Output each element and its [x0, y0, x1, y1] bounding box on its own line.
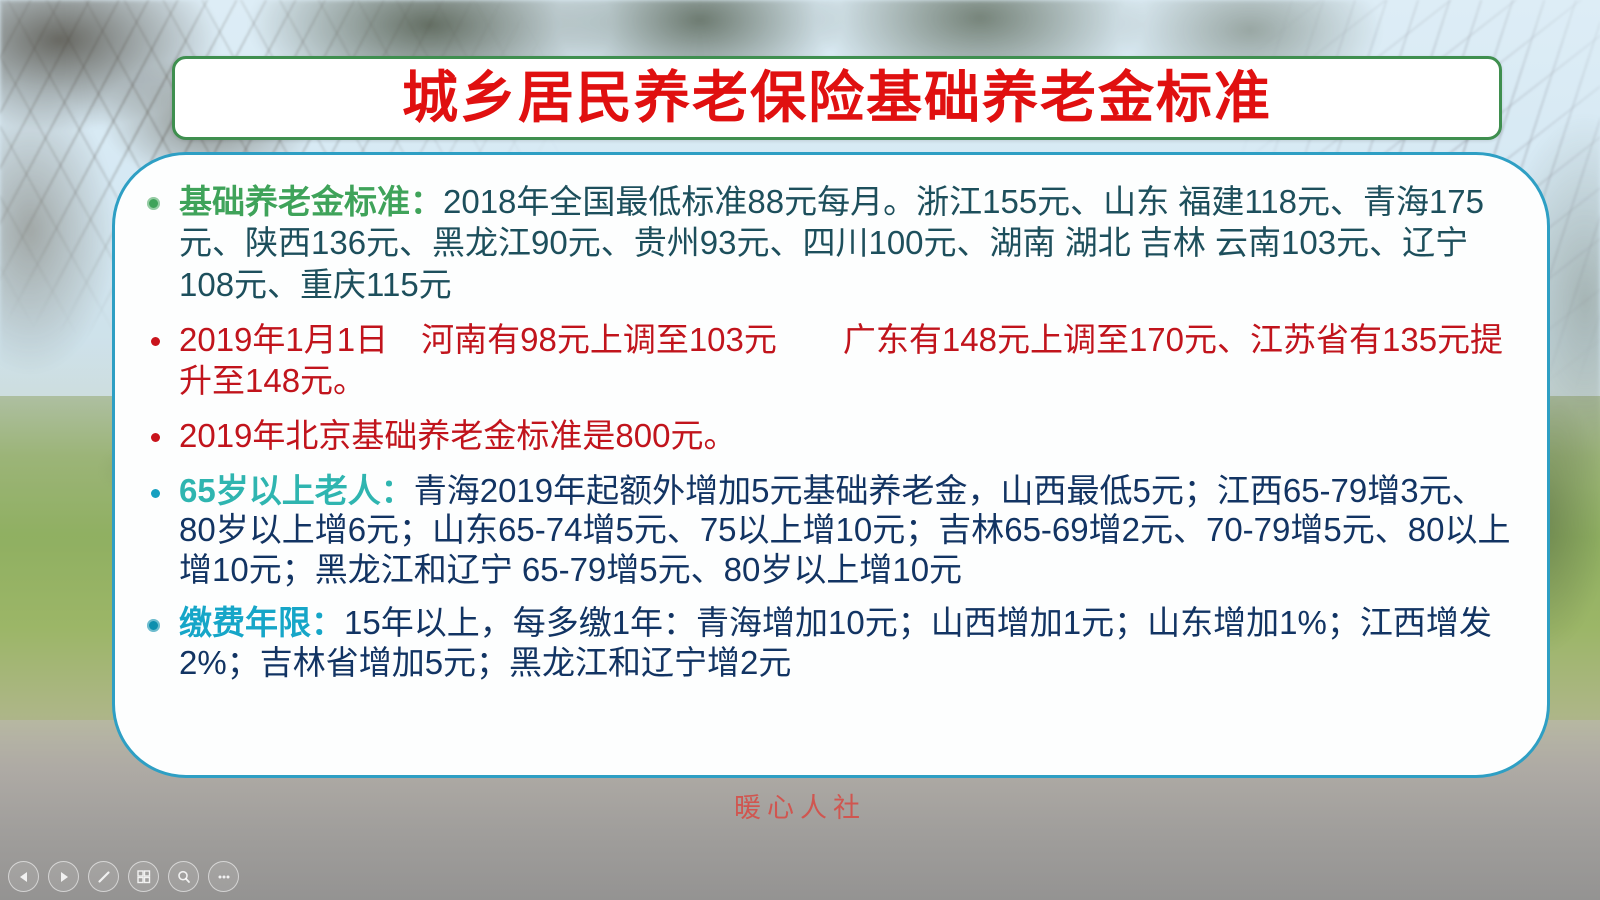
previous-slide-button[interactable]: [8, 861, 39, 892]
pen-tool-button[interactable]: [88, 861, 119, 892]
slide-content-panel: 基础养老金标准：2018年全国最低标准88元每月。浙江155元、山东 福建118…: [112, 152, 1550, 778]
bullet-text: 65岁以上老人：青海2019年起额外增加5元基础养老金，山西最低5元；江西65-…: [179, 471, 1513, 590]
magnifier-icon: [176, 869, 192, 885]
zoom-tool-button[interactable]: [168, 861, 199, 892]
bullet-lead-label: 65岁以上老人：: [179, 472, 414, 509]
bullet-text: 缴费年限：15年以上，每多缴1年：青海增加10元；山西增加1元；山东增加1%；江…: [179, 603, 1513, 682]
slide-title: 城乡居民养老保险基础养老金标准: [402, 70, 1272, 126]
bullet-marker-red: [151, 337, 160, 346]
presenter-toolbar: [8, 861, 239, 892]
grid-icon: [136, 869, 152, 885]
list-item: 基础养老金标准：2018年全国最低标准88元每月。浙江155元、山东 福建118…: [133, 181, 1513, 305]
slide-grid-button[interactable]: [128, 861, 159, 892]
list-item: 65岁以上老人：青海2019年起额外增加5元基础养老金，山西最低5元；江西65-…: [133, 471, 1513, 590]
bullet-lead-label: 缴费年限：: [179, 604, 344, 641]
next-slide-button[interactable]: [48, 861, 79, 892]
bullet-body-text: 15年以上，每多缴1年：青海增加10元；山西增加1元；山东增加1%；江西增发2%…: [179, 604, 1492, 681]
bullet-marker-red: [151, 433, 160, 442]
bullet-marker-teal: [147, 619, 160, 632]
triangle-left-icon: [17, 870, 31, 884]
bullet-list: 基础养老金标准：2018年全国最低标准88元每月。浙江155元、山东 福建118…: [133, 181, 1513, 682]
list-item: 2019年北京基础养老金标准是800元。: [133, 415, 1513, 456]
triangle-right-icon: [57, 870, 71, 884]
pen-icon: [96, 869, 112, 885]
more-options-button[interactable]: [208, 861, 239, 892]
list-item: 缴费年限：15年以上，每多缴1年：青海增加10元；山西增加1元；山东增加1%；江…: [133, 603, 1513, 682]
presentation-slide: 城乡居民养老保险基础养老金标准 基础养老金标准：2018年全国最低标准88元每月…: [0, 0, 1600, 900]
bullet-text: 2019年北京基础养老金标准是800元。: [179, 415, 1513, 456]
bullet-body-text: 2019年北京基础养老金标准是800元。: [179, 417, 736, 454]
bullet-marker-teal: [151, 489, 160, 498]
list-item: 2019年1月1日 河南有98元上调至103元 广东有148元上调至170元、江…: [133, 319, 1513, 402]
slide-title-box: 城乡居民养老保险基础养老金标准: [172, 56, 1502, 140]
bullet-text: 基础养老金标准：2018年全国最低标准88元每月。浙江155元、山东 福建118…: [179, 181, 1513, 305]
bullet-text: 2019年1月1日 河南有98元上调至103元 广东有148元上调至170元、江…: [179, 319, 1513, 402]
bullet-marker-green: [147, 197, 160, 210]
bullet-body-text: 2019年1月1日 河南有98元上调至103元 广东有148元上调至170元、江…: [179, 321, 1503, 399]
bullet-lead-label: 基础养老金标准：: [179, 183, 443, 220]
ellipsis-icon: [216, 869, 232, 885]
watermark: 暖心人社: [0, 786, 1600, 825]
